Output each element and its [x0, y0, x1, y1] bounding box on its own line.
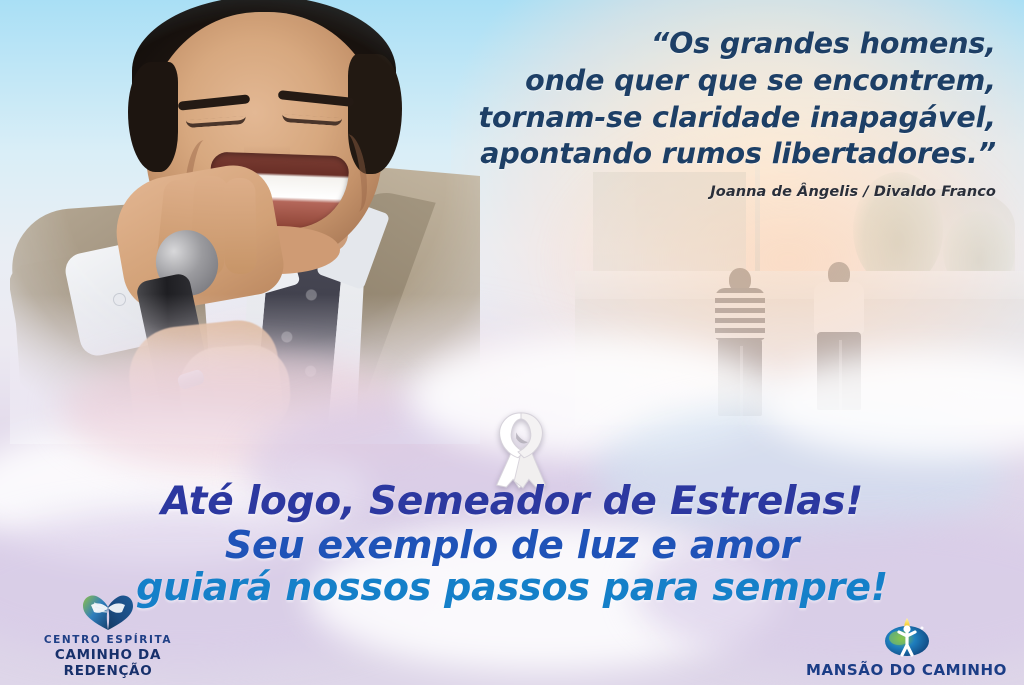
figure-legs: [817, 332, 861, 410]
scene-figure-striped-shirt: [710, 268, 770, 420]
portrait-cloud-fade: [10, 294, 480, 444]
finger: [223, 178, 257, 275]
quote-line-2: onde quer que se encontrem,: [376, 63, 996, 100]
globe-figure-flame-icon: [882, 614, 932, 658]
figure-torso: [715, 288, 765, 340]
headline-block: Até logo, Semeador de Estrelas! Seu exem…: [0, 482, 1024, 607]
headline-line-1: Até logo, Semeador de Estrelas!: [0, 482, 1024, 522]
logo-left-line-2: CAMINHO DA REDENÇÃO: [8, 647, 208, 679]
scene-figure-white-shirt: [808, 262, 870, 420]
quote-block: “Os grandes homens, onde quer que se enc…: [376, 26, 996, 200]
hands-heart-icon: [81, 593, 135, 631]
quote-line-4: apontando rumos libertadores.”: [376, 136, 996, 173]
quote-line-3: tornam-se claridade inapagável,: [376, 100, 996, 137]
logo-mansao-do-caminho[interactable]: MANSÃO DO CAMINHO: [799, 614, 1014, 679]
scene-ground: [575, 299, 1024, 426]
white-memorial-ribbon-icon: [486, 409, 556, 489]
logo-centro-espirita[interactable]: CENTRO ESPÍRITA CAMINHO DA REDENÇÃO: [8, 593, 208, 680]
figure-legs: [718, 338, 762, 416]
quote-attribution: Joanna de Ângelis / Divaldo Franco: [376, 184, 996, 200]
memorial-tribute-poster: “Os grandes homens, onde quer que se enc…: [0, 0, 1024, 685]
figure-torso: [814, 282, 864, 334]
logo-right-line-1: MANSÃO DO CAMINHO: [799, 661, 1014, 679]
quote-line-1: “Os grandes homens,: [376, 26, 996, 63]
hair-side-left: [128, 62, 178, 172]
headline-line-2: Seu exemplo de luz e amor: [0, 525, 1024, 565]
logo-left-line-1: CENTRO ESPÍRITA: [8, 634, 208, 647]
